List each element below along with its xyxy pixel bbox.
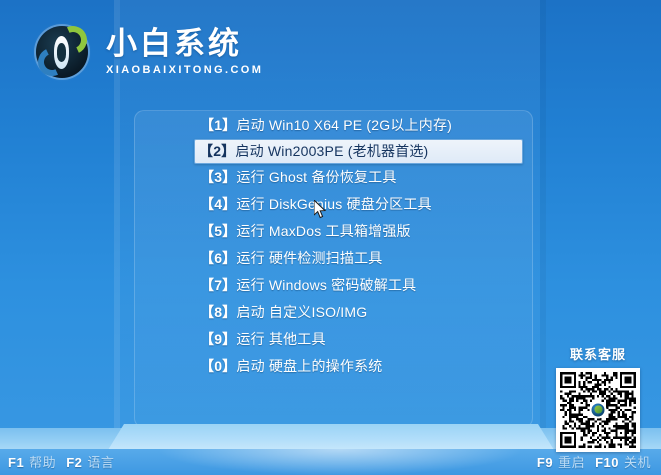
recycle-globe-logo-icon [28, 18, 96, 86]
boot-menu-item-2[interactable]: 【2】启动 Win2003PE (老机器首选) [194, 139, 523, 164]
customer-support-title: 联系客服 [552, 344, 644, 363]
boot-menu-item-key: 【1】 [200, 117, 236, 133]
boot-menu-item-label: 运行 DiskGenius 硬盘分区工具 [236, 196, 431, 212]
function-key-label-f1: 帮助 [29, 455, 56, 470]
boot-menu-item-key: 【8】 [200, 304, 236, 320]
boot-menu-item-5[interactable]: 【5】运行 MaxDos 工具箱增强版 [196, 218, 521, 245]
boot-menu-item-label: 运行 MaxDos 工具箱增强版 [236, 223, 410, 239]
boot-menu-item-label: 运行 Ghost 备份恢复工具 [236, 169, 396, 185]
function-key-f1[interactable]: F1 [8, 455, 24, 470]
boot-menu-screen: 小白系统 XIAOBAIXITONG.COM 【1】启动 Win10 X64 P… [0, 0, 661, 475]
boot-menu-list: 【1】启动 Win10 X64 PE (2G以上内存)【2】启动 Win2003… [134, 112, 533, 380]
stage-platform-center [108, 424, 554, 450]
boot-menu-item-7[interactable]: 【7】运行 Windows 密码破解工具 [196, 272, 521, 299]
function-key-f10[interactable]: F10 [595, 455, 619, 470]
boot-menu-item-8[interactable]: 【8】启动 自定义ISO/IMG [196, 299, 521, 326]
brand-name-en: XIAOBAIXITONG.COM [106, 65, 263, 76]
function-key-label-f9: 重启 [558, 455, 585, 470]
function-key-f9[interactable]: F9 [537, 455, 553, 470]
function-key-f2[interactable]: F2 [66, 455, 82, 470]
boot-menu-item-key: 【7】 [200, 277, 236, 293]
brand-name-cn: 小白系统 [106, 28, 263, 59]
qr-code-icon[interactable] [556, 368, 640, 452]
boot-menu-item-key: 【4】 [200, 196, 236, 212]
boot-menu-item-label: 启动 Win2003PE (老机器首选) [235, 143, 428, 159]
function-bar-left: F1帮助F2语言 [8, 452, 124, 471]
function-key-label-f10: 关机 [624, 455, 651, 470]
boot-menu-item-key: 【5】 [200, 223, 236, 239]
boot-menu-item-1[interactable]: 【1】启动 Win10 X64 PE (2G以上内存) [196, 112, 521, 139]
boot-menu-item-9[interactable]: 【9】运行 其他工具 [196, 326, 521, 353]
boot-menu-item-label: 运行 Windows 密码破解工具 [236, 277, 416, 293]
boot-menu-item-6[interactable]: 【6】运行 硬件检测扫描工具 [196, 245, 521, 272]
boot-menu-item-label: 运行 其他工具 [236, 331, 325, 347]
stage-front-glow [160, 449, 520, 475]
boot-menu-item-key: 【6】 [200, 250, 236, 266]
customer-support-block: 联系客服 [552, 344, 644, 452]
boot-menu-item-key: 【0】 [200, 358, 236, 374]
boot-menu-item-4[interactable]: 【4】运行 DiskGenius 硬盘分区工具 [196, 191, 521, 218]
boot-menu-item-key: 【2】 [199, 143, 235, 159]
qr-center-logo-icon [590, 402, 607, 419]
boot-menu-item-3[interactable]: 【3】运行 Ghost 备份恢复工具 [196, 164, 521, 191]
boot-menu-item-label: 启动 Win10 X64 PE (2G以上内存) [236, 117, 452, 133]
function-key-label-f2: 语言 [87, 455, 114, 470]
function-bar-right: F9重启F10关机 [537, 452, 651, 471]
boot-menu-item-key: 【9】 [200, 331, 236, 347]
brand-logo: 小白系统 XIAOBAIXITONG.COM [28, 18, 263, 86]
boot-menu-item-label: 启动 硬盘上的操作系统 [236, 358, 382, 374]
boot-menu-item-label: 运行 硬件检测扫描工具 [236, 250, 382, 266]
boot-menu-item-10[interactable]: 【0】启动 硬盘上的操作系统 [196, 353, 521, 380]
boot-menu-item-key: 【3】 [200, 169, 236, 185]
boot-menu-item-label: 启动 自定义ISO/IMG [236, 304, 367, 320]
